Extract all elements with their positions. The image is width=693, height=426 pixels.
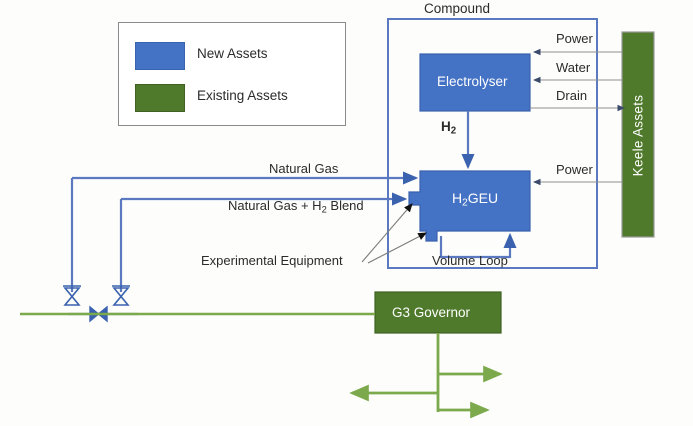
natural-gas-label: Natural Gas [269,162,338,175]
hydrogen-label-sub: 2 [451,125,456,136]
blend-label-post: Blend [327,198,364,213]
compound-label: Compound [424,2,490,16]
keele-assets-label: Keele Assets [631,86,646,186]
h2geu-label-tail: GEU [468,190,498,206]
electrolyser-label: Electrolyser [437,75,508,89]
legend-label-new-assets: New Assets [197,46,268,61]
h2geu-label-h: H [452,190,462,206]
hydrogen-label-h: H [441,119,451,134]
blend-label: Natural Gas + H2 Blend [228,199,364,215]
volume-loop-label: Volume Loop [432,254,508,267]
legend-label-existing-assets: Existing Assets [197,88,288,103]
diagram-canvas: New Assets Existing Assets Compound Elec… [0,0,693,426]
blend-label-pre: Natural Gas + H [228,198,322,213]
power-bottom-label: Power [556,163,593,176]
hydrogen-label: H2 [441,120,456,136]
water-label: Water [556,61,590,74]
power-top-label: Power [556,32,593,45]
g3-governor-label: G3 Governor [392,306,470,320]
legend-swatch-new-assets [135,42,185,70]
experimental-leader-lower [368,233,426,263]
legend-swatch-existing-assets [135,84,185,112]
h2geu-label: H2GEU [452,191,498,209]
asset-legend: New Assets Existing Assets [118,22,346,126]
experimental-equipment-label: Experimental Equipment [201,254,343,267]
drain-label: Drain [556,89,587,102]
